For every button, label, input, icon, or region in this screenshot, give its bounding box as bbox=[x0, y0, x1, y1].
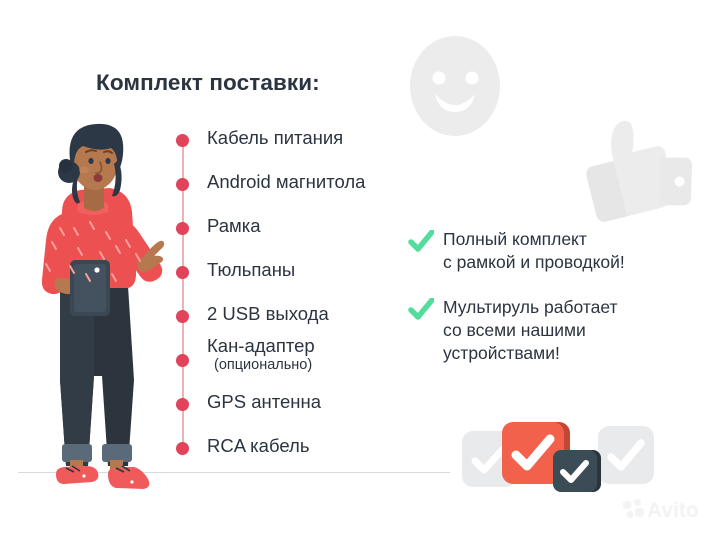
bullet-icon bbox=[176, 266, 189, 279]
list-item-label: RCA кабель bbox=[207, 434, 309, 458]
list-item-label: Тюльпаны bbox=[207, 258, 295, 282]
avito-watermark: Avito bbox=[621, 496, 709, 522]
list-item-sublabel: (опционально) bbox=[214, 356, 312, 374]
list-item-label: Кан-адаптер bbox=[207, 334, 315, 358]
woman-illustration bbox=[16, 108, 180, 490]
page-title: Комплект поставки: bbox=[96, 70, 320, 96]
check-icon bbox=[408, 298, 434, 322]
bullet-icon bbox=[176, 354, 189, 367]
bullet-icon bbox=[176, 310, 189, 323]
list-item: GPS антенна bbox=[176, 392, 426, 416]
list-item-label: Кабель питания bbox=[207, 126, 343, 150]
list-item-label: 2 USB выхода bbox=[207, 302, 329, 326]
bullet-icon bbox=[176, 442, 189, 455]
list-item: Тюльпаны bbox=[176, 260, 426, 284]
list-item: 2 USB выхода bbox=[176, 304, 426, 328]
benefit-item: Мультируль работает со всеми нашими устр… bbox=[408, 296, 708, 365]
list-item: Рамка bbox=[176, 216, 426, 240]
bullet-icon bbox=[176, 178, 189, 191]
list-item-label: Рамка bbox=[207, 214, 261, 238]
checkbox-cluster bbox=[462, 414, 652, 498]
list-item: Кабель питания bbox=[176, 128, 426, 152]
check-icon bbox=[408, 230, 434, 254]
bullet-icon bbox=[176, 222, 189, 235]
bullet-icon bbox=[176, 398, 189, 411]
benefit-item: Полный комплект с рамкой и проводкой! bbox=[408, 228, 708, 274]
promo-banner: Комплект поставки: Кабель питания Androi… bbox=[0, 0, 720, 540]
avito-wordmark: Avito bbox=[647, 499, 699, 522]
benefit-text: Полный комплект с рамкой и проводкой! bbox=[443, 228, 708, 274]
list-item-label: Android магнитола bbox=[207, 170, 365, 194]
kit-contents-list: Кабель питания Android магнитола Рамка Т… bbox=[176, 128, 426, 458]
list-item-label: GPS антенна bbox=[207, 390, 321, 414]
list-item: RCA кабель bbox=[176, 436, 426, 460]
list-item: Кан-адаптер (опционально) bbox=[176, 348, 426, 372]
bullet-icon bbox=[176, 134, 189, 147]
checkbox-gray-right bbox=[598, 426, 654, 484]
benefit-text: Мультируль работает со всеми нашими устр… bbox=[443, 296, 708, 365]
benefits-list: Полный комплект с рамкой и проводкой! Му… bbox=[408, 228, 708, 379]
thumbs-up-icon bbox=[576, 112, 694, 224]
checkbox-navy bbox=[553, 450, 597, 492]
list-item: Android магнитола bbox=[176, 172, 426, 196]
